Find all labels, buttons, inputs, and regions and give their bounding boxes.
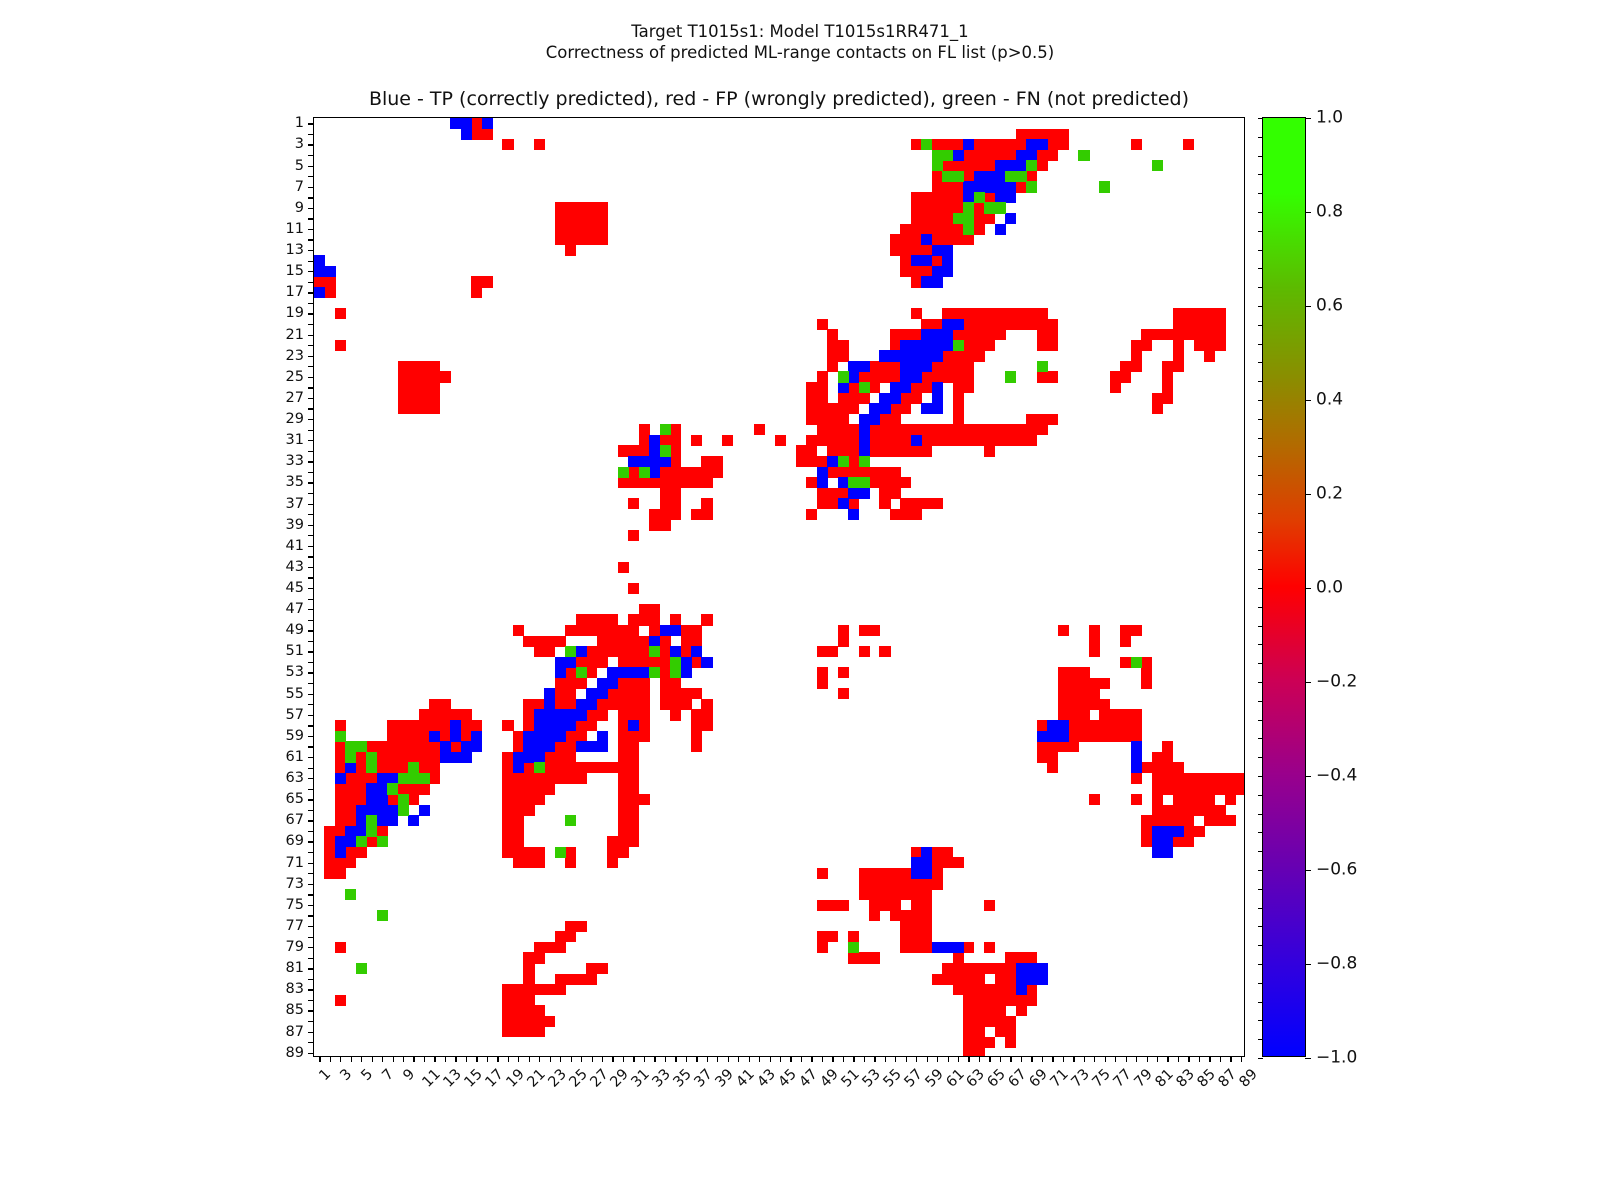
y-tick-mark — [308, 768, 314, 769]
contact-cell-tp — [660, 456, 671, 467]
colorbar-minor-tick — [1258, 325, 1263, 326]
contact-cell-fp — [345, 847, 356, 858]
contact-cell-fp — [1194, 319, 1205, 330]
y-tick-mark — [308, 187, 314, 188]
contact-cell-fp — [827, 424, 838, 435]
contact-cell-fp — [408, 382, 419, 393]
contact-cell-fp — [953, 350, 964, 361]
contact-cell-fp — [1162, 393, 1173, 404]
x-tick-mark — [707, 1056, 708, 1062]
contact-cell-fp — [597, 762, 608, 773]
contact-cell-fp — [900, 245, 911, 256]
y-tick-mark — [308, 208, 314, 209]
contact-cell-fp — [1089, 731, 1100, 742]
contact-cell-tp — [387, 815, 398, 826]
colorbar[interactable]: 1.00.80.60.40.20.0−0.2−0.4−0.6−0.8−1.0 — [1262, 117, 1306, 1057]
contact-cell-fp — [670, 467, 681, 478]
contact-cell-fp — [670, 614, 681, 625]
contact-cell-tp — [356, 826, 367, 837]
x-tick-mark — [612, 1056, 613, 1062]
contact-cell-fp — [523, 857, 534, 868]
contact-cell-fp — [1162, 361, 1173, 372]
contact-cell-tp — [1152, 836, 1163, 847]
contact-cell-fp — [408, 794, 419, 805]
contact-cell-fp — [1068, 720, 1079, 731]
contact-cell-fp — [817, 371, 828, 382]
contact-cell-fp — [1026, 308, 1037, 319]
contact-cell-fp — [879, 868, 890, 879]
colorbar-tick-label: 0.2 — [1316, 486, 1343, 503]
contact-cell-fp — [1183, 139, 1194, 150]
contact-cell-fp — [1026, 952, 1037, 963]
contact-cell-tp — [544, 741, 555, 752]
x-tick-mark — [1199, 1056, 1200, 1062]
contact-cell-tp — [356, 815, 367, 826]
contact-cell-fp — [890, 900, 901, 911]
contact-cell-tp — [932, 340, 943, 351]
contact-cell-fp — [911, 202, 922, 213]
contact-cell-fp — [639, 646, 650, 657]
contact-cell-fp — [984, 192, 995, 203]
x-tick-mark — [989, 1056, 990, 1062]
contact-cell-fp — [335, 741, 346, 752]
colorbar-minor-tick — [1258, 137, 1263, 138]
contact-cell-fp — [974, 150, 985, 161]
contact-cell-tp — [534, 709, 545, 720]
contact-cell-fp — [827, 646, 838, 657]
colorbar-minor-tick — [1258, 870, 1263, 871]
contact-cell-fp — [565, 857, 576, 868]
contact-cell-fp — [523, 699, 534, 710]
y-tick-mark — [308, 419, 314, 420]
contact-cell-fp — [869, 382, 880, 393]
contact-cell-fp — [963, 942, 974, 953]
contact-cell-fp — [932, 192, 943, 203]
x-tick-mark — [1105, 1056, 1106, 1062]
contact-cell-fp — [523, 984, 534, 995]
contact-cell-fp — [534, 139, 545, 150]
contact-cell-tp — [911, 868, 922, 879]
y-tick-mark — [308, 292, 314, 293]
contact-cell-fp — [911, 382, 922, 393]
contact-map-plot[interactable]: 1357911131517192123252729313335373941434… — [313, 117, 1245, 1057]
contact-cell-tp — [911, 340, 922, 351]
contact-cell-fp — [628, 741, 639, 752]
contact-cell-fp — [660, 678, 671, 689]
y-tick-mark — [308, 968, 314, 969]
contact-cell-tp — [963, 192, 974, 203]
x-tick-mark — [1157, 1056, 1158, 1062]
contact-cell-tp — [555, 667, 566, 678]
x-tick-mark — [1010, 1056, 1011, 1062]
contact-cell-fp — [827, 900, 838, 911]
contact-cell-fp — [869, 361, 880, 372]
contact-cell-fp — [932, 868, 943, 879]
contact-cell-fp — [513, 741, 524, 752]
contact-cell-fp — [1089, 794, 1100, 805]
contact-cell-fp — [586, 213, 597, 224]
contact-cell-fp — [942, 160, 953, 171]
figure-suptitle-line2: Correctness of predicted ML-range contac… — [0, 41, 1600, 65]
y-tick-mark — [308, 641, 314, 642]
contact-cell-fp — [953, 963, 964, 974]
contact-cell-tp — [366, 783, 377, 794]
contact-cell-tp — [963, 139, 974, 150]
y-tick-label: 33 — [286, 454, 304, 469]
contact-cell-tp — [555, 657, 566, 668]
contact-cell-fp — [345, 794, 356, 805]
contact-cell-fp — [691, 657, 702, 668]
contact-cell-tp — [942, 245, 953, 256]
contact-cell-fp — [1173, 762, 1184, 773]
x-tick-mark — [1052, 1056, 1053, 1062]
contact-cell-fp — [838, 414, 849, 425]
contact-cell-fn — [649, 646, 660, 657]
contact-cell-fp — [513, 1016, 524, 1027]
contact-cell-fp — [900, 921, 911, 932]
contact-cell-fp — [429, 752, 440, 763]
contact-cell-fp — [649, 477, 660, 488]
contact-cell-fp — [1016, 1005, 1027, 1016]
x-tick-mark — [811, 1056, 812, 1062]
contact-cell-tp — [513, 752, 524, 763]
contact-cell-fp — [565, 224, 576, 235]
contact-cell-fp — [482, 276, 493, 287]
contact-cell-fp — [869, 445, 880, 456]
contact-cell-fp — [618, 762, 629, 773]
contact-cell-fp — [1183, 805, 1194, 816]
contact-cell-tp — [1162, 847, 1173, 858]
contact-cell-fp — [576, 614, 587, 625]
y-tick-mark — [308, 588, 314, 589]
colorbar-minor-tick — [1258, 889, 1263, 890]
contact-cell-fp — [984, 329, 995, 340]
contact-cell-fp — [879, 889, 890, 900]
contact-cell-fp — [534, 1016, 545, 1027]
contact-cell-tp — [377, 794, 388, 805]
contact-cell-fn — [670, 667, 681, 678]
contact-cell-fp — [586, 234, 597, 245]
contact-cell-fp — [523, 762, 534, 773]
contact-cell-fp — [544, 752, 555, 763]
x-tick-mark — [895, 1056, 896, 1062]
contact-cell-fn — [345, 752, 356, 763]
contact-cell-tp — [377, 815, 388, 826]
contact-cell-fp — [1131, 340, 1142, 351]
contact-cell-tp — [387, 805, 398, 816]
contact-cell-fp — [921, 931, 932, 942]
contact-cell-fp — [1183, 783, 1194, 794]
y-tick-mark — [308, 725, 314, 726]
contact-cell-fp — [984, 435, 995, 446]
contact-cell-tp — [921, 857, 932, 868]
x-tick-mark — [937, 1056, 938, 1062]
y-tick-label: 29 — [286, 412, 304, 427]
contact-cell-fp — [953, 952, 964, 963]
x-tick-mark — [1084, 1056, 1085, 1062]
contact-cell-fp — [628, 477, 639, 488]
contact-cell-fp — [419, 382, 430, 393]
contact-cell-fp — [869, 477, 880, 488]
contact-cell-tp — [597, 741, 608, 752]
contact-cell-fp — [565, 741, 576, 752]
contact-cell-fp — [681, 625, 692, 636]
y-tick-mark — [308, 324, 314, 325]
contact-cell-fp — [1120, 636, 1131, 647]
contact-cell-fp — [1131, 350, 1142, 361]
contact-cell-fp — [911, 900, 922, 911]
y-tick-label: 85 — [286, 1003, 304, 1018]
contact-cell-fp — [712, 467, 723, 478]
contact-cell-fp — [1131, 720, 1142, 731]
contact-cell-fp — [660, 657, 671, 668]
contact-cell-fp — [597, 234, 608, 245]
contact-cell-fp — [607, 847, 618, 858]
contact-cell-fp — [974, 435, 985, 446]
contact-cell-fp — [921, 445, 932, 456]
contact-cell-fp — [471, 720, 482, 731]
contact-cell-fp — [1204, 773, 1215, 784]
contact-cell-fp — [502, 720, 513, 731]
contact-cell-fp — [565, 213, 576, 224]
y-tick-label: 19 — [286, 306, 304, 321]
contact-cell-tp — [419, 805, 430, 816]
contact-cell-tp — [1037, 963, 1048, 974]
contact-cell-fp — [974, 984, 985, 995]
contact-cell-fp — [1183, 319, 1194, 330]
y-tick-label: 35 — [286, 475, 304, 490]
colorbar-minor-tick — [1258, 1039, 1263, 1040]
contact-cell-fp — [502, 815, 513, 826]
contact-cell-fp — [618, 445, 629, 456]
contact-cell-fp — [1016, 424, 1027, 435]
contact-cell-fp — [963, 984, 974, 995]
x-tick-mark — [351, 1056, 352, 1062]
contact-cell-fp — [471, 129, 482, 140]
contact-cell-fp — [890, 435, 901, 446]
y-tick-mark — [308, 567, 314, 568]
contact-cell-fp — [628, 614, 639, 625]
contact-cell-fp — [335, 995, 346, 1006]
y-tick-label: 39 — [286, 517, 304, 532]
contact-cell-fp — [628, 498, 639, 509]
contact-cell-fp — [1183, 773, 1194, 784]
contact-cell-fp — [1005, 424, 1016, 435]
contact-cell-fp — [911, 393, 922, 404]
colorbar-minor-tick — [1258, 212, 1263, 213]
contact-cell-fp — [921, 900, 932, 911]
contact-cell-fp — [461, 709, 472, 720]
contact-cell-fp — [408, 371, 419, 382]
contact-cell-fp — [618, 836, 629, 847]
contact-cell-fp — [1078, 720, 1089, 731]
contact-cell-fp — [565, 202, 576, 213]
contact-cell-tp — [984, 171, 995, 182]
contact-cell-fp — [398, 783, 409, 794]
y-tick-mark — [308, 461, 314, 462]
x-tick-mark — [518, 1056, 519, 1062]
contact-cell-fp — [681, 646, 692, 657]
contact-cell-fp — [859, 371, 870, 382]
contact-cell-fp — [534, 847, 545, 858]
contact-cell-fp — [513, 857, 524, 868]
contact-cell-fp — [408, 731, 419, 742]
contact-cell-fp — [1183, 794, 1194, 805]
contact-cell-fp — [429, 361, 440, 372]
contact-cell-fp — [628, 688, 639, 699]
contact-cell-fp — [701, 467, 712, 478]
contact-cell-fp — [1152, 393, 1163, 404]
contact-cell-fp — [879, 477, 890, 488]
contact-cell-fp — [1005, 435, 1016, 446]
contact-cell-fp — [639, 657, 650, 668]
contact-cell-fp — [618, 562, 629, 573]
contact-cell-fp — [523, 963, 534, 974]
contact-cell-fp — [1215, 319, 1226, 330]
contact-cell-tp — [911, 350, 922, 361]
contact-cell-fp — [1162, 805, 1173, 816]
contact-cell-fp — [817, 498, 828, 509]
x-tick-mark — [1073, 1056, 1074, 1062]
contact-cell-fn — [859, 477, 870, 488]
contact-cell-fp — [890, 878, 901, 889]
contact-cell-fn — [555, 847, 566, 858]
contact-cell-fn — [859, 382, 870, 393]
contact-cell-fp — [953, 308, 964, 319]
contact-cell-fn — [565, 646, 576, 657]
y-tick-mark — [308, 345, 314, 346]
contact-cell-fp — [974, 1005, 985, 1016]
contact-cell-fp — [911, 266, 922, 277]
contact-cell-fp — [1141, 340, 1152, 351]
contact-cell-fp — [1047, 752, 1058, 763]
contact-cell-fp — [817, 403, 828, 414]
contact-cell-fp — [911, 942, 922, 953]
contact-cell-tp — [1131, 741, 1142, 752]
contact-cell-fp — [838, 445, 849, 456]
colorbar-minor-tick — [1258, 344, 1263, 345]
y-tick-label: 27 — [286, 391, 304, 406]
contact-cell-fp — [879, 646, 890, 657]
contact-cell-fp — [555, 974, 566, 985]
colorbar-minor-tick — [1258, 851, 1263, 852]
x-tick-mark — [330, 1056, 331, 1062]
contact-cell-fp — [565, 234, 576, 245]
contact-cell-fp — [848, 382, 859, 393]
contact-cell-fp — [681, 699, 692, 710]
contact-cell-tp — [1162, 826, 1173, 837]
contact-cell-fp — [555, 234, 566, 245]
contact-cell-fp — [879, 424, 890, 435]
contact-cell-fp — [1162, 371, 1173, 382]
contact-cell-fp — [942, 371, 953, 382]
contact-cell-fp — [701, 709, 712, 720]
contact-cell-fp — [607, 836, 618, 847]
y-tick-mark — [308, 577, 314, 578]
y-tick-label: 47 — [286, 602, 304, 617]
colorbar-minor-tick — [1258, 419, 1263, 420]
contact-cell-fp — [921, 224, 932, 235]
contact-cell-fp — [984, 984, 995, 995]
contact-cell-fp — [1194, 773, 1205, 784]
contact-cell-fp — [534, 984, 545, 995]
contact-cell-fp — [848, 393, 859, 404]
y-tick-label: 73 — [286, 876, 304, 891]
contact-cell-fp — [660, 498, 671, 509]
contact-cell-fn — [953, 213, 964, 224]
y-tick-mark — [308, 630, 314, 631]
contact-cell-tp — [565, 709, 576, 720]
y-tick-label: 7 — [295, 179, 304, 194]
contact-cell-fp — [513, 826, 524, 837]
contact-cell-fp — [419, 741, 430, 752]
contact-cell-fp — [597, 224, 608, 235]
contact-cell-fp — [984, 424, 995, 435]
contact-cell-fp — [942, 202, 953, 213]
contact-cell-fp — [523, 783, 534, 794]
y-tick-mark — [308, 599, 314, 600]
contact-cell-tp — [324, 266, 335, 277]
contact-cell-fp — [900, 224, 911, 235]
contact-cell-fp — [974, 974, 985, 985]
contact-cell-fp — [607, 614, 618, 625]
contact-cell-fp — [398, 720, 409, 731]
contact-cell-fp — [1110, 709, 1121, 720]
colorbar-minor-tick — [1258, 776, 1263, 777]
y-tick-mark — [308, 229, 314, 230]
contact-cell-tp — [921, 403, 932, 414]
y-tick-mark — [308, 218, 314, 219]
contact-cell-fp — [324, 826, 335, 837]
colorbar-minor-tick — [1258, 588, 1263, 589]
contact-cell-fp — [1005, 1037, 1016, 1048]
contact-cell-fp — [1099, 699, 1110, 710]
contact-cell-fp — [911, 308, 922, 319]
colorbar-minor-tick — [1258, 644, 1263, 645]
contact-cell-fp — [387, 752, 398, 763]
contact-cell-fp — [544, 783, 555, 794]
contact-cell-fp — [565, 847, 576, 858]
contact-cell-fp — [398, 762, 409, 773]
contact-cell-fp — [628, 794, 639, 805]
contact-cell-fp — [523, 636, 534, 647]
y-tick-mark — [308, 715, 314, 716]
colorbar-minor-tick — [1258, 475, 1263, 476]
contact-cell-fp — [1058, 678, 1069, 689]
contact-cell-fp — [963, 1037, 974, 1048]
contact-cell-fp — [911, 276, 922, 287]
contact-cell-fp — [597, 657, 608, 668]
contact-cell-tp — [649, 435, 660, 446]
contact-cell-tp — [1016, 974, 1027, 985]
colorbar-minor-tick — [1258, 663, 1263, 664]
contact-cell-tp — [618, 667, 629, 678]
contact-cell-fp — [471, 118, 482, 129]
y-tick-label: 13 — [286, 243, 304, 258]
contact-cell-fp — [932, 371, 943, 382]
contact-cell-fp — [607, 688, 618, 699]
contact-cell-fp — [974, 213, 985, 224]
contact-cell-fp — [555, 636, 566, 647]
contact-cell-tp — [681, 667, 692, 678]
contact-cell-fp — [806, 477, 817, 488]
x-tick-mark — [916, 1056, 917, 1062]
contact-cell-fp — [440, 371, 451, 382]
contact-cell-fp — [827, 931, 838, 942]
contact-cell-fp — [890, 424, 901, 435]
contact-cell-fp — [597, 614, 608, 625]
contact-cell-fp — [1141, 836, 1152, 847]
